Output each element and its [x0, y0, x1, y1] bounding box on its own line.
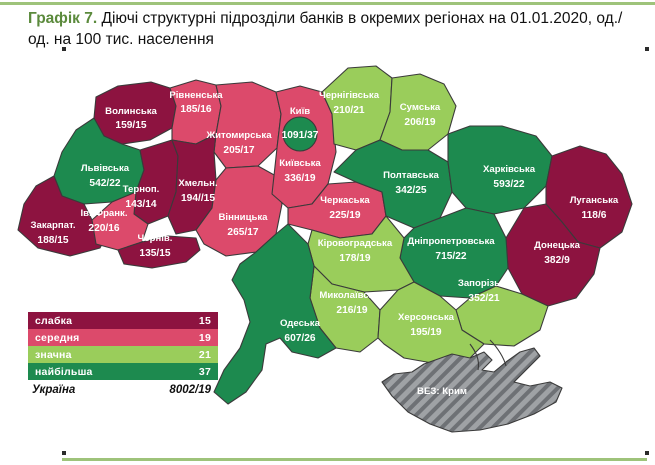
- label-ternopil: Терноп.: [123, 184, 160, 195]
- legend-total-label: Україна: [32, 384, 75, 396]
- value-zhytomyr: 205/17: [223, 145, 254, 156]
- label-luhansk: Луганська: [570, 195, 619, 206]
- page-title: Графік 7. Діючі структурні підрозділи ба…: [28, 8, 638, 50]
- label-poltava: Полтавська: [383, 170, 439, 181]
- label-crimea: ВЕЗ: Крим: [417, 386, 467, 397]
- label-lviv: Львівська: [81, 163, 130, 174]
- label-zhytomyr: Житомирська: [205, 130, 272, 141]
- label-dnipro: Дніпропетровська: [407, 236, 495, 247]
- region-crimea[interactable]: [382, 348, 562, 432]
- value-volyn: 159/15: [115, 120, 146, 131]
- value-khmelnytskyi: 194//15: [181, 193, 215, 204]
- value-vinnytsia: 265/17: [227, 227, 258, 238]
- legend-row-medium: середня 19: [28, 329, 218, 346]
- value-kirovohrad: 178/19: [339, 253, 370, 264]
- label-vinnytsia: Вінницька: [218, 212, 268, 223]
- legend-value-weak: 15: [199, 315, 211, 327]
- value-odesa: 607/26: [284, 333, 315, 344]
- value-zakarpattia: 188/15: [37, 235, 68, 246]
- legend-row-significant: значна 21: [28, 346, 218, 363]
- corner-dot-top-right: [645, 47, 649, 51]
- value-poltava: 342/25: [395, 185, 426, 196]
- label-kyiv-city: Київ: [290, 106, 310, 117]
- value-chernihiv: 210/21: [333, 105, 364, 116]
- title-prefix: Графік 7.: [28, 10, 97, 27]
- value-kherson: 195/19: [410, 327, 441, 338]
- chart-figure: Графік 7. Діючі структурні підрозділи ба…: [0, 0, 655, 465]
- legend-total-value: 8002/19: [169, 384, 211, 396]
- label-donetsk: Донецька: [534, 240, 581, 251]
- top-rule: [0, 2, 655, 5]
- label-sumy: Сумська: [400, 102, 441, 113]
- label-chernivtsi: Чернів.: [138, 233, 173, 244]
- label-kyiv-oblast: Київська: [279, 158, 321, 169]
- label-rivne: Рівненська: [169, 90, 223, 101]
- label-kharkiv: Харківська: [483, 164, 536, 175]
- legend-label-significant: значна: [35, 349, 72, 361]
- label-ivano: Ів.-Франк.: [80, 208, 127, 219]
- label-cherkasy: Черкаська: [320, 195, 370, 206]
- value-zaporizhzhia: 352/21: [468, 293, 499, 304]
- legend-row-weak: слабка 15: [28, 312, 218, 329]
- label-khmelnytskyi: Хмельн.: [178, 178, 217, 189]
- value-ivano: 220/16: [88, 223, 119, 234]
- value-donetsk: 382/9: [544, 255, 570, 266]
- bottom-rule: [62, 458, 647, 461]
- title-rest: Діючі структурні підрозділи банків в окр…: [28, 10, 622, 48]
- legend-row-highest: найбільша 37: [28, 363, 218, 380]
- value-kharkiv: 593/22: [493, 179, 524, 190]
- value-kyiv-city: 1091/37: [282, 130, 319, 141]
- legend-label-highest: найбільша: [35, 366, 93, 378]
- value-kyiv-oblast: 336/19: [284, 173, 315, 184]
- value-sumy: 206/19: [404, 117, 435, 128]
- value-cherkasy: 225/19: [329, 210, 360, 221]
- legend-label-medium: середня: [35, 332, 79, 344]
- label-odesa: Одеська: [280, 318, 321, 329]
- value-rivne: 185/16: [180, 104, 211, 115]
- label-kherson: Херсонська: [398, 312, 455, 323]
- legend-value-highest: 37: [199, 366, 211, 378]
- value-mykolaiv: 216/19: [336, 305, 367, 316]
- label-kirovohrad: Кіровоградська: [318, 238, 393, 249]
- legend: слабка 15 середня 19 значна 21 найбільша…: [28, 312, 218, 400]
- label-mykolaiv: Миколаївська: [319, 290, 385, 301]
- value-ternopil: 143/14: [125, 199, 156, 210]
- value-chernivtsi: 135/15: [139, 248, 170, 259]
- legend-label-weak: слабка: [35, 315, 72, 327]
- label-zaporizhzhia: Запорізька: [458, 278, 511, 289]
- legend-total-row: Україна 8002/19: [28, 380, 218, 400]
- value-luhansk: 118/6: [582, 210, 607, 221]
- value-lviv: 542/22: [89, 178, 120, 189]
- value-dnipro: 715/22: [435, 251, 466, 262]
- label-chernihiv: Чернігівська: [319, 90, 380, 101]
- label-zakarpattia: Закарпат.: [31, 220, 76, 231]
- legend-value-medium: 19: [199, 332, 211, 344]
- label-volyn: Волинська: [105, 106, 157, 117]
- legend-value-significant: 21: [199, 349, 211, 361]
